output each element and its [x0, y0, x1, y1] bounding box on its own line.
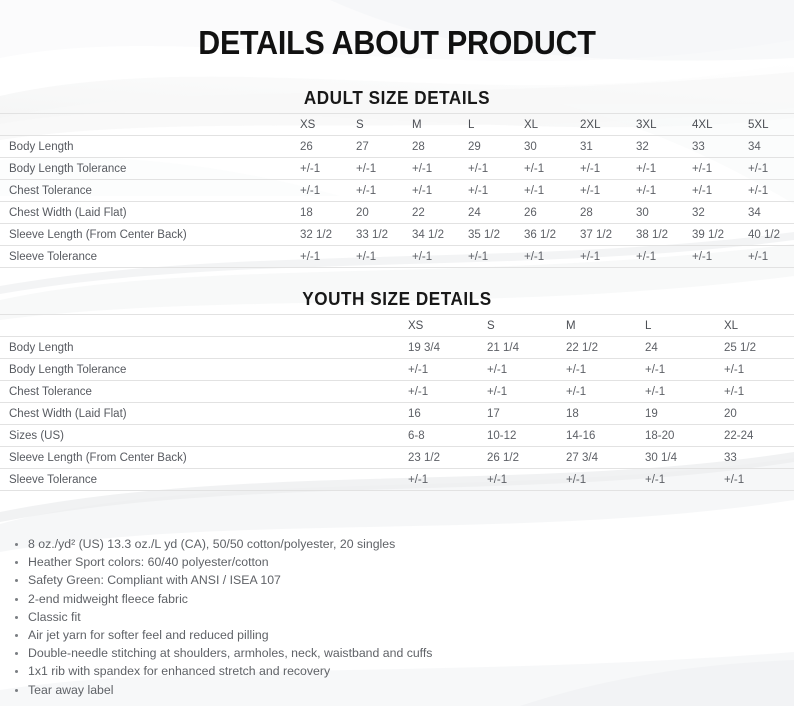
adult-cell: 27 — [356, 136, 412, 158]
youth-cell: 17 — [487, 403, 566, 425]
page-title: DETAILS ABOUT PRODUCT — [32, 0, 762, 59]
table-row: Sleeve Length (From Center Back)32 1/233… — [0, 224, 794, 246]
adult-cell: 28 — [412, 136, 468, 158]
adult-cell: +/-1 — [748, 246, 794, 268]
adult-column-header: M — [412, 114, 468, 136]
youth-cell: 27 3/4 — [566, 447, 645, 469]
adult-cell: +/-1 — [580, 158, 636, 180]
youth-cell: 14-16 — [566, 425, 645, 447]
youth-cell: 19 — [645, 403, 724, 425]
youth-column-header: S — [487, 315, 566, 337]
youth-cell: +/-1 — [487, 469, 566, 491]
adult-cell: 34 1/2 — [412, 224, 468, 246]
youth-cell: +/-1 — [724, 359, 794, 381]
youth-table-header: XSSMLXL — [0, 315, 794, 337]
adult-cell: 18 — [300, 202, 356, 224]
adult-table-corner-cell — [0, 114, 300, 136]
youth-row-label: Chest Width (Laid Flat) — [0, 403, 408, 425]
table-row: Sleeve Tolerance+/-1+/-1+/-1+/-1+/-1 — [0, 469, 794, 491]
adult-table-body: Body Length262728293031323334Body Length… — [0, 136, 794, 268]
adult-cell: +/-1 — [580, 180, 636, 202]
adult-cell: 34 — [748, 202, 794, 224]
youth-cell: +/-1 — [724, 469, 794, 491]
youth-column-header: M — [566, 315, 645, 337]
adult-row-label: Sleeve Length (From Center Back) — [0, 224, 300, 246]
youth-row-label: Chest Tolerance — [0, 381, 408, 403]
adult-cell: +/-1 — [748, 180, 794, 202]
adult-cell: 30 — [636, 202, 692, 224]
adult-size-table: XSSMLXL2XL3XL4XL5XL Body Length262728293… — [0, 113, 794, 268]
youth-size-table: XSSMLXL Body Length19 3/421 1/422 1/2242… — [0, 314, 794, 491]
adult-column-header: XL — [524, 114, 580, 136]
youth-cell: +/-1 — [566, 381, 645, 403]
youth-cell: +/-1 — [566, 359, 645, 381]
feature-list-item: Tear away label — [10, 681, 794, 699]
youth-column-header: XL — [724, 315, 794, 337]
adult-cell: +/-1 — [636, 246, 692, 268]
adult-column-header: XS — [300, 114, 356, 136]
adult-column-header: L — [468, 114, 524, 136]
youth-row-label: Body Length — [0, 337, 408, 359]
youth-cell: 23 1/2 — [408, 447, 487, 469]
youth-table-body: Body Length19 3/421 1/422 1/22425 1/2Bod… — [0, 337, 794, 491]
adult-cell: +/-1 — [468, 158, 524, 180]
youth-cell: 24 — [645, 337, 724, 359]
adult-cell: +/-1 — [300, 158, 356, 180]
youth-size-section-title: YOUTH SIZE DETAILS — [20, 268, 774, 308]
adult-cell: +/-1 — [468, 246, 524, 268]
youth-cell: 21 1/4 — [487, 337, 566, 359]
adult-cell: +/-1 — [692, 158, 748, 180]
youth-cell: 22 1/2 — [566, 337, 645, 359]
youth-column-header: XS — [408, 315, 487, 337]
youth-cell: 22-24 — [724, 425, 794, 447]
adult-cell: 26 — [524, 202, 580, 224]
youth-row-label: Body Length Tolerance — [0, 359, 408, 381]
youth-size-table-container: XSSMLXL Body Length19 3/421 1/422 1/2242… — [0, 314, 794, 491]
table-row: Body Length262728293031323334 — [0, 136, 794, 158]
adult-cell: +/-1 — [412, 180, 468, 202]
adult-cell: +/-1 — [356, 158, 412, 180]
table-row: Sleeve Tolerance+/-1+/-1+/-1+/-1+/-1+/-1… — [0, 246, 794, 268]
adult-cell: 30 — [524, 136, 580, 158]
adult-cell: 32 — [692, 202, 748, 224]
feature-list-item: 2-end midweight fleece fabric — [10, 590, 794, 608]
adult-cell: +/-1 — [412, 246, 468, 268]
adult-cell: +/-1 — [412, 158, 468, 180]
adult-cell: 26 — [300, 136, 356, 158]
youth-cell: 10-12 — [487, 425, 566, 447]
youth-row-label: Sizes (US) — [0, 425, 408, 447]
feature-list-item: Classic fit — [10, 608, 794, 626]
table-row: Sleeve Length (From Center Back)23 1/226… — [0, 447, 794, 469]
table-row: Chest Width (Laid Flat)1617181920 — [0, 403, 794, 425]
adult-column-header: 5XL — [748, 114, 794, 136]
youth-cell: +/-1 — [487, 381, 566, 403]
youth-cell: +/-1 — [408, 381, 487, 403]
youth-cell: +/-1 — [408, 469, 487, 491]
adult-cell: +/-1 — [524, 180, 580, 202]
adult-row-label: Body Length Tolerance — [0, 158, 300, 180]
adult-header-row: XSSMLXL2XL3XL4XL5XL — [0, 114, 794, 136]
adult-cell: +/-1 — [692, 246, 748, 268]
adult-row-label: Chest Tolerance — [0, 180, 300, 202]
feature-list-item: Double-needle stitching at shoulders, ar… — [10, 644, 794, 662]
adult-row-label: Body Length — [0, 136, 300, 158]
youth-cell: +/-1 — [487, 359, 566, 381]
table-row: Body Length Tolerance+/-1+/-1+/-1+/-1+/-… — [0, 158, 794, 180]
adult-cell: +/-1 — [580, 246, 636, 268]
adult-cell: +/-1 — [356, 246, 412, 268]
adult-cell: 32 1/2 — [300, 224, 356, 246]
adult-cell: +/-1 — [468, 180, 524, 202]
feature-list-item: Heather Sport colors: 60/40 polyester/co… — [10, 553, 794, 571]
table-row: Chest Width (Laid Flat)18202224262830323… — [0, 202, 794, 224]
youth-column-header: L — [645, 315, 724, 337]
table-row: Sizes (US)6-810-1214-1618-2022-24 — [0, 425, 794, 447]
adult-column-header: 4XL — [692, 114, 748, 136]
table-row: Body Length19 3/421 1/422 1/22425 1/2 — [0, 337, 794, 359]
youth-cell: 18 — [566, 403, 645, 425]
adult-cell: 31 — [580, 136, 636, 158]
youth-cell: 25 1/2 — [724, 337, 794, 359]
adult-cell: 29 — [468, 136, 524, 158]
youth-header-row: XSSMLXL — [0, 315, 794, 337]
youth-cell: 26 1/2 — [487, 447, 566, 469]
adult-cell: 39 1/2 — [692, 224, 748, 246]
adult-cell: 35 1/2 — [468, 224, 524, 246]
adult-size-section-title: ADULT SIZE DETAILS — [20, 59, 774, 107]
adult-cell: 37 1/2 — [580, 224, 636, 246]
adult-size-table-container: XSSMLXL2XL3XL4XL5XL Body Length262728293… — [0, 113, 794, 268]
adult-cell: 32 — [636, 136, 692, 158]
adult-cell: 40 1/2 — [748, 224, 794, 246]
youth-cell: +/-1 — [645, 359, 724, 381]
table-row: Body Length Tolerance+/-1+/-1+/-1+/-1+/-… — [0, 359, 794, 381]
youth-cell: 33 — [724, 447, 794, 469]
youth-cell: +/-1 — [645, 469, 724, 491]
feature-list-item: 8 oz./yd² (US) 13.3 oz./L yd (CA), 50/50… — [10, 535, 794, 553]
feature-list-item: Air jet yarn for softer feel and reduced… — [10, 626, 794, 644]
youth-table-corner-cell — [0, 315, 408, 337]
youth-cell: 6-8 — [408, 425, 487, 447]
adult-cell: +/-1 — [300, 246, 356, 268]
youth-cell: +/-1 — [724, 381, 794, 403]
youth-cell: +/-1 — [645, 381, 724, 403]
adult-cell: +/-1 — [636, 180, 692, 202]
adult-cell: +/-1 — [300, 180, 356, 202]
adult-cell: 38 1/2 — [636, 224, 692, 246]
adult-column-header: 2XL — [580, 114, 636, 136]
adult-cell: 36 1/2 — [524, 224, 580, 246]
table-row: Chest Tolerance+/-1+/-1+/-1+/-1+/-1 — [0, 381, 794, 403]
adult-column-header: 3XL — [636, 114, 692, 136]
feature-list-item: 1x1 rib with spandex for enhanced stretc… — [10, 662, 794, 680]
table-row: Chest Tolerance+/-1+/-1+/-1+/-1+/-1+/-1+… — [0, 180, 794, 202]
adult-cell: 28 — [580, 202, 636, 224]
adult-cell: 34 — [748, 136, 794, 158]
adult-cell: 33 — [692, 136, 748, 158]
adult-table-header: XSSMLXL2XL3XL4XL5XL — [0, 114, 794, 136]
adult-column-header: S — [356, 114, 412, 136]
product-details-page: DETAILS ABOUT PRODUCT ADULT SIZE DETAILS… — [0, 0, 794, 706]
adult-cell: +/-1 — [692, 180, 748, 202]
youth-cell: 18-20 — [645, 425, 724, 447]
youth-cell: +/-1 — [566, 469, 645, 491]
adult-cell: +/-1 — [636, 158, 692, 180]
youth-cell: 30 1/4 — [645, 447, 724, 469]
adult-row-label: Chest Width (Laid Flat) — [0, 202, 300, 224]
adult-cell: +/-1 — [356, 180, 412, 202]
youth-cell: 19 3/4 — [408, 337, 487, 359]
youth-cell: +/-1 — [408, 359, 487, 381]
adult-cell: 33 1/2 — [356, 224, 412, 246]
youth-cell: 16 — [408, 403, 487, 425]
adult-cell: 24 — [468, 202, 524, 224]
feature-list-item: Safety Green: Compliant with ANSI / ISEA… — [10, 571, 794, 589]
adult-cell: 20 — [356, 202, 412, 224]
youth-row-label: Sleeve Length (From Center Back) — [0, 447, 408, 469]
youth-row-label: Sleeve Tolerance — [0, 469, 408, 491]
adult-cell: 22 — [412, 202, 468, 224]
adult-cell: +/-1 — [524, 158, 580, 180]
adult-row-label: Sleeve Tolerance — [0, 246, 300, 268]
adult-cell: +/-1 — [748, 158, 794, 180]
youth-cell: 20 — [724, 403, 794, 425]
adult-cell: +/-1 — [524, 246, 580, 268]
product-features-list: 8 oz./yd² (US) 13.3 oz./L yd (CA), 50/50… — [0, 535, 794, 699]
